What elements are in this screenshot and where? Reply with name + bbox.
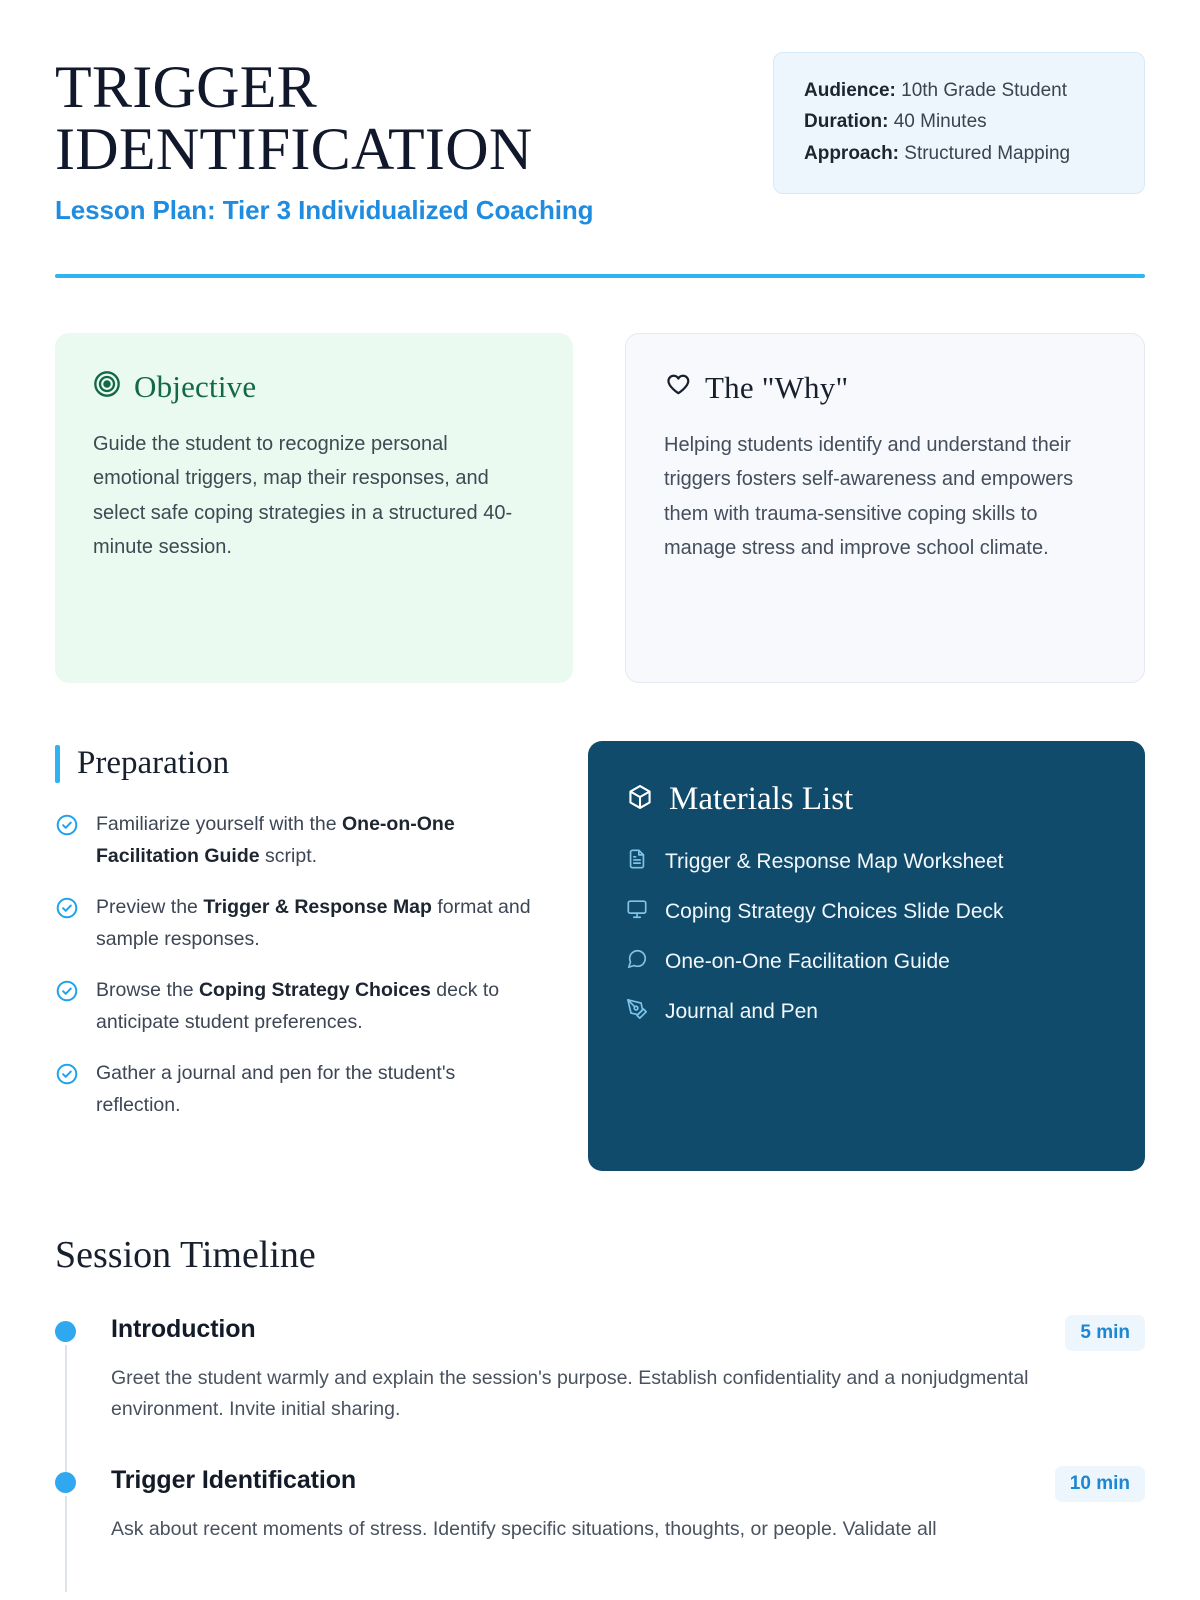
list-item: Coping Strategy Choices Slide Deck bbox=[626, 896, 1107, 927]
meta-label-approach: Approach: bbox=[804, 143, 899, 164]
prep-materials-row: Preparation Familiarize yourself with th… bbox=[55, 741, 1145, 1171]
preparation-list: Familiarize yourself with the One-on-One… bbox=[55, 809, 536, 1122]
timeline-item: Trigger Identification 10 min Ask about … bbox=[55, 1466, 1145, 1586]
target-icon bbox=[93, 370, 121, 403]
monitor-icon bbox=[626, 898, 648, 925]
list-item: Familiarize yourself with the One-on-One… bbox=[55, 809, 536, 873]
list-item: Preview the Trigger & Response Map forma… bbox=[55, 892, 536, 956]
meta-row-duration: Duration: 40 Minutes bbox=[804, 106, 1116, 137]
list-item: Trigger & Response Map Worksheet bbox=[626, 846, 1107, 877]
why-body: Helping students identify and understand… bbox=[664, 428, 1106, 566]
why-card: The "Why" Helping students identify and … bbox=[625, 333, 1145, 683]
list-item: Browse the Coping Strategy Choices deck … bbox=[55, 975, 536, 1039]
material-label: Trigger & Response Map Worksheet bbox=[665, 846, 1003, 877]
session-timeline-section: Session Timeline Introduction 5 min Gree… bbox=[55, 1233, 1145, 1586]
timeline-duration-badge: 5 min bbox=[1065, 1315, 1145, 1351]
objective-card: Objective Guide the student to recognize… bbox=[55, 333, 573, 683]
why-heading: The "Why" bbox=[705, 370, 848, 406]
timeline-item-description: Ask about recent moments of stress. Iden… bbox=[111, 1514, 1111, 1546]
prep-text-post: script. bbox=[260, 845, 317, 867]
meta-label-audience: Audience: bbox=[804, 80, 896, 101]
header-divider bbox=[55, 274, 1145, 278]
document-header: TRIGGER IDENTIFICATION Lesson Plan: Tier… bbox=[55, 52, 1145, 226]
lesson-plan-page: TRIGGER IDENTIFICATION Lesson Plan: Tier… bbox=[0, 0, 1200, 1600]
check-circle-icon bbox=[55, 1062, 79, 1091]
meta-value-audience: 10th Grade Student bbox=[896, 80, 1067, 101]
objective-heading: Objective bbox=[134, 369, 256, 405]
prep-text-pre: Gather a journal and pen for the student… bbox=[96, 1062, 455, 1116]
summary-cards-row: Objective Guide the student to recognize… bbox=[55, 333, 1145, 683]
timeline-item-header: Introduction 5 min bbox=[111, 1315, 1145, 1351]
timeline-item-description: Greet the student warmly and explain the… bbox=[111, 1363, 1111, 1426]
box-icon bbox=[626, 783, 654, 816]
meta-value-duration: 40 Minutes bbox=[888, 111, 986, 132]
preparation-header: Preparation bbox=[55, 745, 536, 783]
heart-icon bbox=[664, 371, 692, 404]
material-label: One-on-One Facilitation Guide bbox=[665, 946, 950, 977]
timeline-item: Introduction 5 min Greet the student war… bbox=[55, 1315, 1145, 1466]
objective-card-header: Objective bbox=[93, 369, 535, 405]
material-label: Journal and Pen bbox=[665, 996, 818, 1027]
list-item-text: Familiarize yourself with the One-on-One… bbox=[96, 809, 536, 873]
timeline-dot-icon bbox=[55, 1472, 76, 1493]
prep-text-pre: Preview the bbox=[96, 896, 203, 918]
prep-text-pre: Familiarize yourself with the bbox=[96, 813, 342, 835]
meta-row-audience: Audience: 10th Grade Student bbox=[804, 75, 1116, 106]
list-item: Gather a journal and pen for the student… bbox=[55, 1058, 536, 1122]
timeline-connector bbox=[65, 1345, 67, 1472]
timeline-item-title: Introduction bbox=[111, 1315, 256, 1344]
list-item-text: Preview the Trigger & Response Map forma… bbox=[96, 892, 536, 956]
page-title: TRIGGER IDENTIFICATION bbox=[55, 56, 535, 181]
materials-list: Trigger & Response Map Worksheet Coping … bbox=[626, 846, 1107, 1027]
why-card-header: The "Why" bbox=[664, 370, 1106, 406]
accent-bar bbox=[55, 745, 60, 783]
timeline-duration-badge: 10 min bbox=[1055, 1466, 1145, 1502]
timeline-heading: Session Timeline bbox=[55, 1233, 1145, 1277]
list-item-text: Gather a journal and pen for the student… bbox=[96, 1058, 536, 1122]
list-item-text: Browse the Coping Strategy Choices deck … bbox=[96, 975, 536, 1039]
meta-value-approach: Structured Mapping bbox=[899, 143, 1070, 164]
timeline-connector bbox=[65, 1496, 67, 1592]
material-label: Coping Strategy Choices Slide Deck bbox=[665, 896, 1004, 927]
timeline-item-header: Trigger Identification 10 min bbox=[111, 1466, 1145, 1502]
list-item: Journal and Pen bbox=[626, 996, 1107, 1027]
materials-heading: Materials List bbox=[669, 781, 853, 818]
check-circle-icon bbox=[55, 896, 79, 925]
pen-tool-icon bbox=[626, 998, 648, 1025]
list-item: One-on-One Facilitation Guide bbox=[626, 946, 1107, 977]
header-text-block: TRIGGER IDENTIFICATION Lesson Plan: Tier… bbox=[55, 52, 715, 226]
materials-header: Materials List bbox=[626, 781, 1107, 818]
meta-label-duration: Duration: bbox=[804, 111, 888, 132]
preparation-heading: Preparation bbox=[77, 745, 229, 782]
prep-text-pre: Browse the bbox=[96, 979, 199, 1001]
meta-info-box: Audience: 10th Grade Student Duration: 4… bbox=[773, 52, 1145, 194]
timeline-dot-icon bbox=[55, 1321, 76, 1342]
prep-text-strong: Coping Strategy Choices bbox=[199, 979, 431, 1001]
timeline-item-title: Trigger Identification bbox=[111, 1466, 356, 1495]
materials-panel: Materials List Trigger & Response Map Wo… bbox=[588, 741, 1145, 1171]
meta-row-approach: Approach: Structured Mapping bbox=[804, 138, 1116, 169]
check-circle-icon bbox=[55, 813, 79, 842]
preparation-section: Preparation Familiarize yourself with th… bbox=[55, 741, 536, 1141]
page-subtitle: Lesson Plan: Tier 3 Individualized Coach… bbox=[55, 195, 715, 226]
file-text-icon bbox=[626, 848, 648, 875]
check-circle-icon bbox=[55, 979, 79, 1008]
prep-text-strong: Trigger & Response Map bbox=[203, 896, 432, 918]
objective-body: Guide the student to recognize personal … bbox=[93, 427, 535, 565]
message-icon bbox=[626, 948, 648, 975]
